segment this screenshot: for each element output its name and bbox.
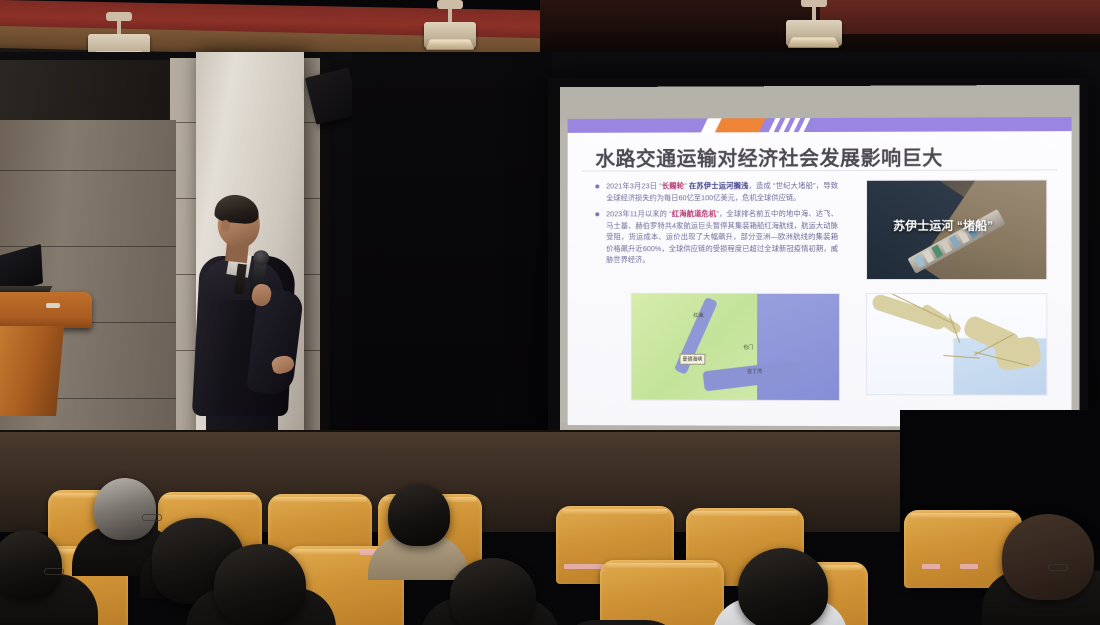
seat-mid-3[interactable] [600, 560, 724, 625]
image-caption-suez: 苏伊士运河 “堵船” [893, 217, 1044, 234]
bullet-text-emphasis: 红海航道危机 [672, 209, 717, 218]
bullet-text-run: 2023年11月以来的 “ [606, 209, 672, 218]
map-label-yemen: 也门 [743, 344, 753, 351]
audience-area [0, 470, 1100, 625]
bullet-item-suez: 2021年3月23日 “长赐轮” 在苏伊士运河搁浅，造成 “世纪大堵船”，导致全… [593, 180, 838, 203]
spotlight-lens [788, 37, 841, 47]
bullet-text-run: 2021年3月23日 “ [606, 181, 662, 190]
map-label-red-sea: 红海 [693, 312, 703, 319]
bullet-item-red-sea: 2023年11月以来的 “红海航道危机”，全球排名前五中的地中海、达飞、马士基、… [593, 208, 838, 266]
lectern [0, 292, 92, 412]
audience-head [0, 530, 62, 600]
audience-head [450, 558, 536, 625]
image-shipping-route-map [866, 293, 1047, 396]
map-label-gulf-of-aden: 亚丁湾 [747, 368, 762, 375]
slide-title: 水路交通运输对经济社会发展影响巨大 [595, 141, 1047, 171]
presentation-slide: 水路交通运输对经济社会发展影响巨大 2021年3月23日 “长赐轮” 在苏伊士运… [560, 85, 1080, 459]
lectern-body [0, 326, 64, 416]
map-label-bab-el-mandeb: 曼德海峡 [680, 354, 706, 365]
lectern-control-knob[interactable] [46, 303, 60, 308]
lecture-hall-scene: 水路交通运输对经济社会发展影响巨大 2021年3月23日 “长赐轮” 在苏伊士运… [0, 0, 1100, 625]
audience-head [738, 548, 828, 625]
spotlight-lens [426, 39, 475, 49]
image-suez-canal: 苏伊士运河 “堵船” [866, 179, 1047, 280]
accent-orange-wedge [715, 118, 766, 132]
audience-head [214, 544, 306, 625]
slide-title-underline [581, 169, 1057, 171]
accent-stripe-4 [799, 118, 811, 132]
lectern-top [0, 292, 92, 328]
slide-letterbox-top [560, 85, 1080, 121]
presenter-ear [221, 220, 230, 232]
slide-content-area: 水路交通运输对经济社会发展影响巨大 2021年3月23日 “长赐轮” 在苏伊士运… [568, 117, 1072, 427]
slide-bullet-list: 2021年3月23日 “长赐轮” 在苏伊士运河搁浅，造成 “世纪大堵船”，导致全… [593, 180, 838, 271]
slide-header-accent-bar [568, 117, 1072, 133]
audience-glasses-icon [1048, 564, 1068, 571]
audience-glasses-icon [44, 568, 64, 575]
audience-glasses-icon [142, 514, 162, 521]
map-arabian-sea [757, 293, 840, 401]
image-red-sea-map: 红海 也门 亚丁湾 曼德海峡 [631, 293, 840, 401]
ceiling-right-red-beam [820, 0, 1100, 34]
audience-head [388, 484, 450, 546]
bullet-text-emphasis-alt: 在苏伊士运河搁浅 [689, 181, 749, 190]
wall-dark-section [352, 52, 552, 482]
bullet-text-emphasis: 长赐轮 [662, 181, 685, 190]
presenter-hair [214, 193, 260, 225]
audience-head [1002, 514, 1094, 600]
audience-head-gray [94, 478, 156, 540]
